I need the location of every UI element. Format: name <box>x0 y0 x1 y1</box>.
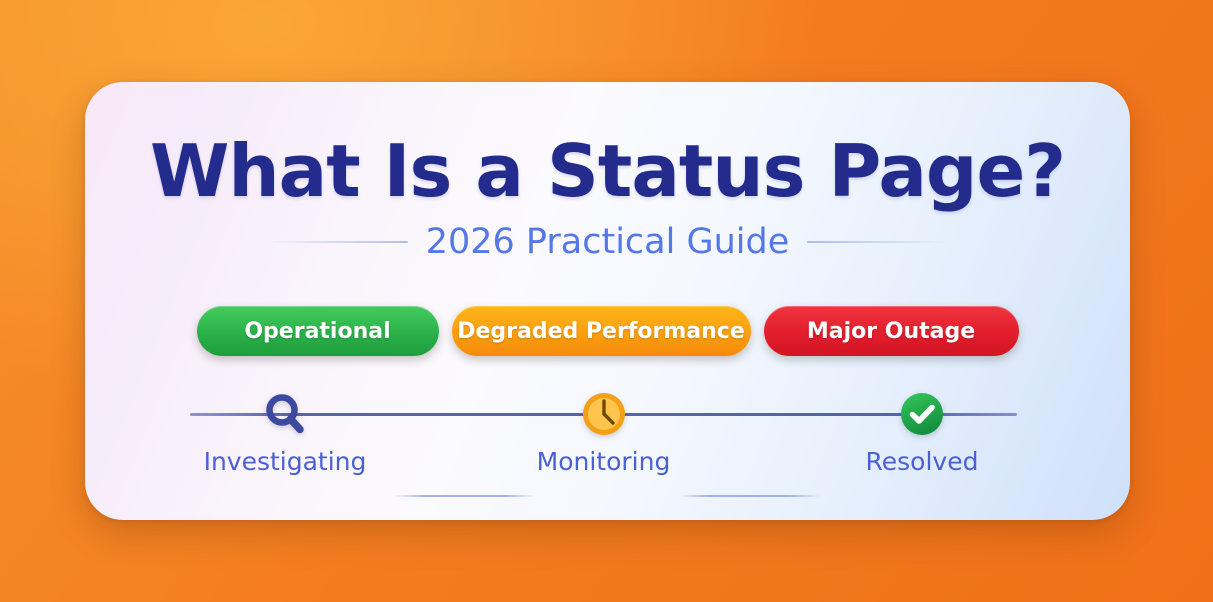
timeline-step-investigating[interactable]: Investigating <box>190 400 380 477</box>
clock-icon <box>581 391 627 437</box>
check-circle-icon <box>899 391 945 437</box>
status-pill-major-outage[interactable]: Major Outage <box>764 306 1019 356</box>
status-pill-degraded-performance[interactable]: Degraded Performance <box>452 306 751 356</box>
title-block: What Is a Status Page? <box>85 130 1130 212</box>
incident-timeline: Investigating Monitoring <box>190 400 1017 500</box>
timeline-step-resolved[interactable]: Resolved <box>827 400 1017 477</box>
subtitle-rule-left <box>266 241 408 243</box>
timeline-label-resolved: Resolved <box>866 447 979 477</box>
page-subtitle: 2026 Practical Guide <box>426 222 790 262</box>
timeline-label-monitoring: Monitoring <box>537 447 671 477</box>
status-pill-operational[interactable]: Operational <box>197 306 439 356</box>
timeline-label-rule-1 <box>394 495 536 497</box>
page-title: What Is a Status Page? <box>85 130 1130 212</box>
timeline-steps: Investigating Monitoring <box>190 400 1017 477</box>
magnifier-icon <box>262 391 308 437</box>
status-pill-group: Operational Degraded Performance Major O… <box>85 306 1130 356</box>
poster-background: What Is a Status Page? 2026 Practical Gu… <box>0 0 1213 602</box>
subtitle-rule-right <box>807 241 949 243</box>
timeline-label-investigating: Investigating <box>204 447 367 477</box>
timeline-step-monitoring[interactable]: Monitoring <box>509 400 699 477</box>
subtitle-block: 2026 Practical Guide <box>85 222 1130 262</box>
status-page-card: What Is a Status Page? 2026 Practical Gu… <box>85 82 1130 520</box>
timeline-label-rule-2 <box>678 495 820 497</box>
